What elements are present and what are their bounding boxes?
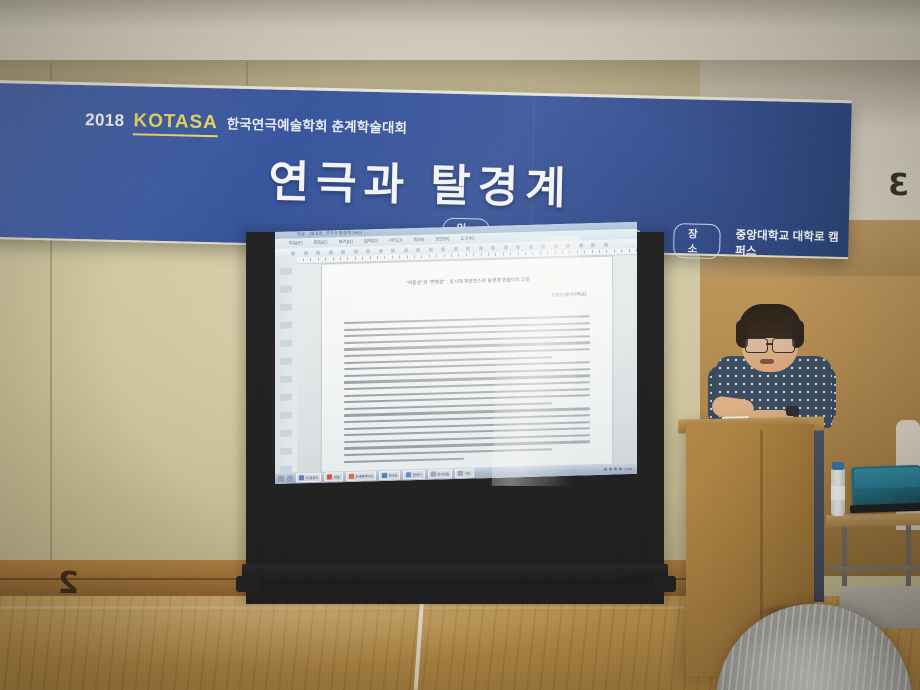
ruler-tick xyxy=(303,259,304,262)
ruler-tick xyxy=(318,258,319,261)
ruler-tick xyxy=(592,251,593,254)
toolbar-button-icon[interactable] xyxy=(391,248,395,252)
menu-item-5[interactable]: 쪽(W) xyxy=(413,237,424,243)
wall-numeral-left: 2 xyxy=(58,566,79,601)
taskbar-button-label: 프레젠테이션 xyxy=(355,473,373,478)
ruler-tick xyxy=(392,256,393,259)
left-panel-item[interactable] xyxy=(280,412,292,419)
system-tray[interactable]: 14:32 xyxy=(604,466,634,471)
laptop-lid xyxy=(854,467,920,489)
toolbar-button-icon[interactable] xyxy=(504,245,508,249)
ruler-tick xyxy=(399,256,400,259)
ruler-tick xyxy=(555,252,556,255)
screen-base-bar xyxy=(242,564,668,584)
toolbar-button-icon[interactable] xyxy=(566,243,570,247)
ruler-tick xyxy=(606,250,607,253)
taskbar-button-4[interactable]: 탐색기 xyxy=(403,470,424,480)
taskbar-app-icon xyxy=(431,472,436,477)
screen-foot-left xyxy=(236,576,260,592)
ruler-tick xyxy=(414,255,415,258)
recycle-bin-icon[interactable] xyxy=(278,475,284,481)
menu-item-4[interactable]: 서식(J) xyxy=(389,237,402,243)
ruler-tick xyxy=(325,258,326,261)
ruler-tick xyxy=(621,250,622,253)
ruler-tick xyxy=(532,252,533,255)
projection-screen: 한글 - [발표문_연극과 탈경계.hwp] 파일(F)편집(E)보기(U)입력… xyxy=(246,232,664,604)
tray-icon[interactable] xyxy=(619,467,622,470)
menu-item-7[interactable]: 도구(K) xyxy=(461,235,475,241)
ruler-tick xyxy=(636,249,637,252)
toolbar-button-icon[interactable] xyxy=(304,251,308,255)
taskbar-app-icon xyxy=(349,474,354,479)
toolbar-button-icon[interactable] xyxy=(341,250,345,254)
left-panel-item[interactable] xyxy=(280,394,292,401)
taskbar-button-2[interactable]: 프레젠테이션 xyxy=(346,471,376,481)
taskbar-button-5[interactable]: 문서모음 xyxy=(428,469,452,479)
left-panel-item[interactable] xyxy=(280,448,292,455)
toolbar-button-icon[interactable] xyxy=(316,250,320,254)
ruler-tick xyxy=(444,255,445,258)
tray-icon[interactable] xyxy=(604,468,607,471)
document-text-line xyxy=(344,457,464,463)
ruler-tick xyxy=(584,251,585,254)
screen-foot-right xyxy=(654,576,676,592)
bottle-cap xyxy=(832,462,844,470)
taskbar-app-icon xyxy=(327,474,332,479)
tray-clock: 14:32 xyxy=(624,467,632,471)
ruler-tick xyxy=(377,257,378,260)
document-text-line xyxy=(344,448,552,456)
speaker-mouth xyxy=(760,359,774,364)
tray-icon[interactable] xyxy=(614,467,617,470)
ruler-tick xyxy=(562,251,563,254)
ruler-tick xyxy=(384,256,385,259)
toolbar-button-icon[interactable] xyxy=(491,245,495,249)
ceiling-shadow xyxy=(0,0,920,28)
taskbar-button-label: 탐색기 xyxy=(413,472,422,477)
taskbar-button-label: 문서모음 xyxy=(437,471,449,476)
toolbar-button-icon[interactable] xyxy=(466,246,470,250)
left-panel-item[interactable] xyxy=(280,286,292,293)
toolbar-button-icon[interactable] xyxy=(541,244,545,248)
ruler-tick xyxy=(473,254,474,257)
banner-org-acronym: KOTASA xyxy=(133,110,218,137)
ruler-tick xyxy=(629,249,630,252)
toolbar-button-icon[interactable] xyxy=(404,248,408,252)
toolbar-button-icon[interactable] xyxy=(554,244,558,248)
ruler-tick xyxy=(340,258,341,261)
toolbar-button-icon[interactable] xyxy=(479,246,483,250)
taskbar-button-label: 인터넷 xyxy=(388,473,397,478)
ruler-tick xyxy=(355,257,356,260)
ruler-tick xyxy=(547,252,548,255)
document-page: "이동성"과 "변형성" : 동시대 퍼포먼스의 탈경계 연출미학 고찰 손종희… xyxy=(321,256,613,484)
ruler-tick xyxy=(347,257,348,260)
toolbar-button-icon[interactable] xyxy=(366,249,370,253)
ruler-tick xyxy=(495,253,496,256)
toolbar-button-icon[interactable] xyxy=(329,250,333,254)
ruler-tick xyxy=(466,254,467,257)
banner-org-name: 한국연극예술학회 춘계학술대회 xyxy=(226,112,407,136)
left-panel-item[interactable] xyxy=(280,304,292,311)
menu-item-1[interactable]: 편집(E) xyxy=(314,240,328,246)
ruler-tick xyxy=(503,253,504,256)
toolbar-button-icon[interactable] xyxy=(516,245,520,249)
toolbar-button-icon[interactable] xyxy=(379,249,383,253)
conference-photo-scene: 2 3 2018 KOTASA 한국연극예술학회 춘계학술대회 연극과 탈경계 … xyxy=(0,0,920,690)
ruler-tick xyxy=(540,252,541,255)
toolbar-button-icon[interactable] xyxy=(354,249,358,253)
wall-numeral-right: 3 xyxy=(888,168,909,203)
ruler-tick xyxy=(518,253,519,256)
taskbar-button-1[interactable]: 한글 xyxy=(324,472,342,482)
wristwatch xyxy=(786,406,799,416)
ruler-tick xyxy=(421,255,422,258)
toolbar-button-icon[interactable] xyxy=(579,243,583,247)
quick-launch-icon[interactable] xyxy=(287,475,293,481)
taskbar-button-0[interactable]: 내 컴퓨터 xyxy=(296,473,321,483)
toolbar-button-icon[interactable] xyxy=(604,242,608,246)
banner-year: 2018 xyxy=(85,110,125,131)
ruler-tick xyxy=(458,254,459,257)
toolbar-button-icon[interactable] xyxy=(441,247,445,251)
taskbar-button-label: 내 컴퓨터 xyxy=(306,475,319,480)
left-panel-item[interactable] xyxy=(280,358,292,365)
document-author: 손종희 (중앙대학교) xyxy=(551,291,586,298)
left-panel-item[interactable] xyxy=(280,430,292,437)
ruler-tick xyxy=(407,256,408,259)
toolbar-button-icon[interactable] xyxy=(291,251,295,255)
eyeglasses-bridge xyxy=(766,343,772,345)
ruler-tick xyxy=(362,257,363,260)
toolbar-button-icon[interactable] xyxy=(591,243,595,247)
eyeglasses-right-lens xyxy=(772,338,795,353)
taskbar-app-icon xyxy=(406,472,411,477)
bottle-label xyxy=(831,486,845,500)
taskbar-app-icon xyxy=(382,473,387,478)
ruler-tick xyxy=(488,253,489,256)
left-panel-item[interactable] xyxy=(280,322,292,329)
ruler-tick xyxy=(577,251,578,254)
left-panel-item[interactable] xyxy=(280,340,292,347)
menu-item-2[interactable]: 보기(U) xyxy=(339,239,353,245)
toolbar-button-icon[interactable] xyxy=(529,244,533,248)
taskbar-app-icon xyxy=(299,475,304,480)
taskbar-app-icon xyxy=(458,471,463,476)
place-label-pill: 장소 xyxy=(673,223,720,259)
ruler-tick xyxy=(333,258,334,261)
app-left-panel xyxy=(275,257,297,484)
toolbar-button-icon[interactable] xyxy=(429,247,433,251)
place-value: 중앙대학교 대학로 캠퍼스 xyxy=(735,226,849,261)
tray-icon[interactable] xyxy=(609,467,612,470)
ruler-tick xyxy=(451,254,452,257)
menu-item-0[interactable]: 파일(F) xyxy=(289,240,303,246)
taskbar-button-label: 기타 xyxy=(465,471,471,476)
ruler-tick xyxy=(429,255,430,258)
ruler-tick xyxy=(436,255,437,258)
ruler-tick xyxy=(481,254,482,257)
toolbar-button-icon[interactable] xyxy=(454,246,458,250)
left-panel-item[interactable] xyxy=(280,268,292,275)
ruler-tick xyxy=(569,251,570,254)
ruler-tick xyxy=(370,257,371,260)
taskbar-button-6[interactable]: 기타 xyxy=(455,468,473,478)
ruler-tick xyxy=(510,253,511,256)
document-title: "이동성"과 "변형성" : 동시대 퍼포먼스의 탈경계 연출미학 고찰 xyxy=(346,275,590,288)
toolbar-button-icon[interactable] xyxy=(416,248,420,252)
ruler-tick xyxy=(525,252,526,255)
taskbar-button-label: 한글 xyxy=(334,474,340,479)
ruler-tick xyxy=(599,250,600,253)
ruler-tick xyxy=(310,258,311,261)
eyeglasses-left-lens xyxy=(745,338,768,353)
left-panel-item[interactable] xyxy=(280,376,292,383)
projected-image-area: 한글 - [발표문_연극과 탈경계.hwp] 파일(F)편집(E)보기(U)입력… xyxy=(275,222,637,484)
menu-item-3[interactable]: 입력(D) xyxy=(364,238,378,244)
taskbar-button-3[interactable]: 인터넷 xyxy=(379,471,400,481)
ruler-tick xyxy=(614,250,615,253)
menu-item-6[interactable]: 보안(R) xyxy=(435,236,449,242)
